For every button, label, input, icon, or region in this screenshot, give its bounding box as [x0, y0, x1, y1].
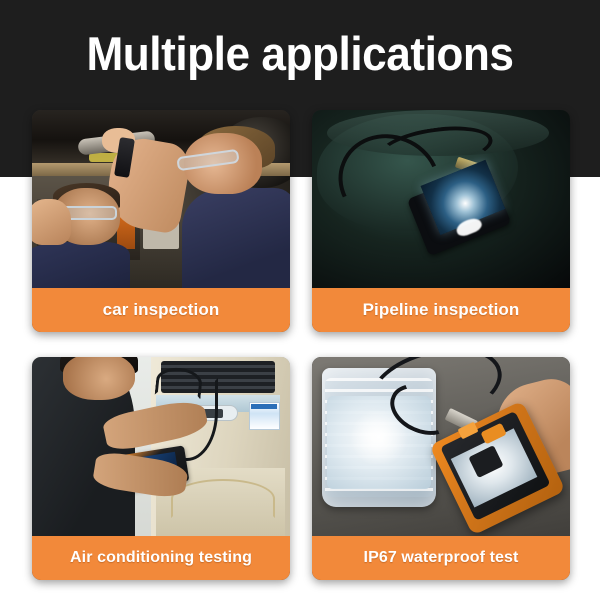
caption-pipeline-inspection: Pipeline inspection [312, 288, 570, 332]
application-card-grid: car inspection Pipeline inspection [32, 110, 570, 580]
application-card-air-conditioning-testing[interactable]: Air conditioning testing [32, 357, 290, 580]
caption-ip67-waterproof-test: IP67 waterproof test [312, 536, 570, 580]
photo-ip67-waterproof-test [312, 357, 570, 536]
application-card-pipeline-inspection[interactable]: Pipeline inspection [312, 110, 570, 332]
photo-car-inspection [32, 110, 290, 288]
photo-pipeline-inspection [312, 110, 570, 288]
application-card-car-inspection[interactable]: car inspection [32, 110, 290, 332]
page-title: Multiple applications [18, 26, 582, 82]
caption-air-conditioning-testing: Air conditioning testing [32, 536, 290, 580]
photo-air-conditioning-testing [32, 357, 290, 536]
application-card-ip67-waterproof-test[interactable]: IP67 waterproof test [312, 357, 570, 580]
caption-car-inspection: car inspection [32, 288, 290, 332]
